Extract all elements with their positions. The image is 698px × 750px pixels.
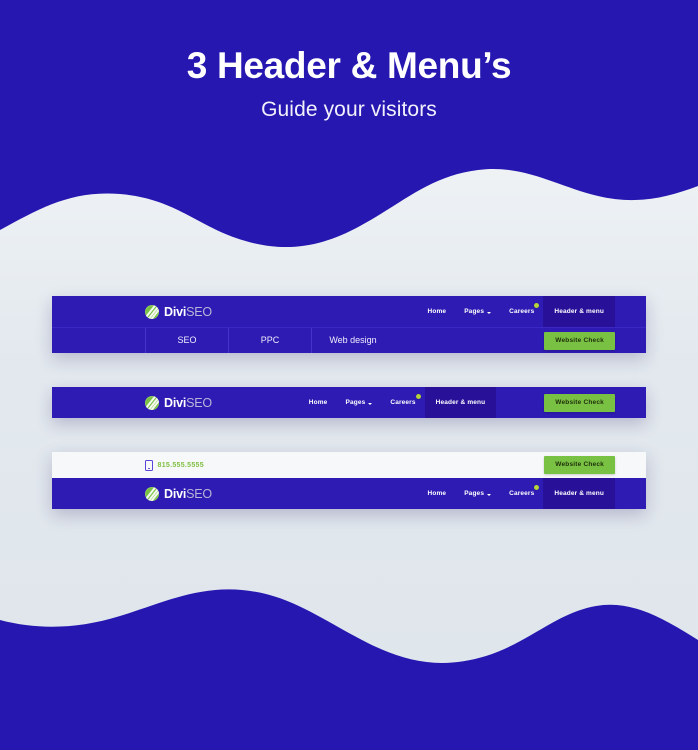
primary-navigation: Home Pages Careers Header & menu: [300, 387, 496, 418]
chevron-down-icon: [487, 312, 491, 314]
mobile-phone-icon: [145, 460, 153, 471]
notification-badge-icon: [416, 394, 421, 399]
website-check-button[interactable]: Website Check: [544, 332, 615, 350]
nav-item-careers[interactable]: Careers: [381, 387, 424, 418]
phone-number: 815.555.5555: [158, 461, 204, 470]
brand-logo[interactable]: DiviSEO: [145, 396, 212, 410]
header-variant-3: 815.555.5555 Website Check DiviSEO Home …: [52, 452, 646, 509]
nav-item-label: Home: [428, 490, 447, 498]
secondary-nav-item-web-design[interactable]: Web design: [311, 328, 394, 353]
hero-section: 3 Header & Menu’s Guide your visitors: [0, 0, 698, 123]
nav-item-header-and-menu[interactable]: Header & menu: [543, 478, 615, 509]
notification-badge-icon: [534, 303, 539, 308]
primary-navigation: Home Pages Careers Header & menu: [419, 296, 615, 327]
nav-item-label: Careers: [390, 399, 415, 407]
top-contact-bar: 815.555.5555 Website Check: [52, 452, 646, 478]
website-check-button[interactable]: Website Check: [544, 394, 615, 412]
main-nav-bar: DiviSEO Home Pages Careers Head: [52, 296, 646, 327]
nav-item-label: Home: [428, 308, 447, 316]
header-mockups-list: DiviSEO Home Pages Careers Head: [52, 296, 646, 509]
divi-leaf-logo-icon: [145, 396, 159, 410]
nav-item-home[interactable]: Home: [419, 478, 456, 509]
nav-item-label: Careers: [509, 308, 534, 316]
page-canvas: 3 Header & Menu’s Guide your visitors Di…: [0, 0, 698, 750]
brand-logo[interactable]: DiviSEO: [145, 487, 212, 501]
phone-contact[interactable]: 815.555.5555: [145, 460, 204, 471]
nav-item-label: Pages: [464, 308, 484, 316]
nav-cta-area: Website Check: [544, 394, 615, 412]
nav-item-careers[interactable]: Careers: [500, 296, 543, 327]
nav-item-label: Header & menu: [554, 308, 604, 316]
nav-item-pages[interactable]: Pages: [455, 478, 500, 509]
secondary-nav-label: SEO: [177, 335, 196, 346]
page-title: 3 Header & Menu’s: [0, 0, 698, 88]
header-variant-2: DiviSEO Home Pages Careers Head: [52, 387, 646, 418]
nav-item-label: Home: [309, 399, 328, 407]
main-nav-bar: DiviSEO Home Pages Careers Head: [52, 387, 646, 418]
brand-name: DiviSEO: [164, 305, 212, 319]
page-subtitle: Guide your visitors: [0, 88, 698, 123]
nav-item-pages[interactable]: Pages: [336, 387, 381, 418]
secondary-nav-bar: SEO PPC Web design Website Check: [52, 327, 646, 353]
nav-item-label: Header & menu: [436, 399, 486, 407]
primary-navigation: Home Pages Careers Header & menu: [419, 478, 615, 509]
secondary-nav-label: Web design: [329, 335, 376, 346]
brand-logo[interactable]: DiviSEO: [145, 305, 212, 319]
brand-name-bold: Divi: [164, 396, 186, 410]
brand-name-light: SEO: [186, 396, 212, 410]
nav-item-home[interactable]: Home: [419, 296, 456, 327]
brand-name: DiviSEO: [164, 487, 212, 501]
brand-name-bold: Divi: [164, 305, 186, 319]
nav-item-home[interactable]: Home: [300, 387, 337, 418]
nav-item-label: Header & menu: [554, 490, 604, 498]
secondary-nav-item-ppc[interactable]: PPC: [228, 328, 311, 353]
secondary-nav-left-spacer: [52, 328, 145, 353]
secondary-nav-label: PPC: [261, 335, 280, 346]
divi-leaf-logo-icon: [145, 305, 159, 319]
secondary-nav-item-seo[interactable]: SEO: [145, 328, 228, 353]
brand-name: DiviSEO: [164, 396, 212, 410]
website-check-button[interactable]: Website Check: [544, 456, 615, 474]
chevron-down-icon: [487, 494, 491, 496]
nav-item-label: Careers: [509, 490, 534, 498]
nav-item-header-and-menu[interactable]: Header & menu: [425, 387, 497, 418]
header-variant-1: DiviSEO Home Pages Careers Head: [52, 296, 646, 353]
brand-name-light: SEO: [186, 305, 212, 319]
chevron-down-icon: [368, 403, 372, 405]
main-nav-bar: DiviSEO Home Pages Careers Head: [52, 478, 646, 509]
nav-item-careers[interactable]: Careers: [500, 478, 543, 509]
divi-leaf-logo-icon: [145, 487, 159, 501]
notification-badge-icon: [534, 485, 539, 490]
secondary-nav-right-area: Website Check: [394, 328, 646, 353]
nav-item-label: Pages: [464, 490, 484, 498]
brand-name-bold: Divi: [164, 487, 186, 501]
nav-item-label: Pages: [345, 399, 365, 407]
nav-item-pages[interactable]: Pages: [455, 296, 500, 327]
nav-item-header-and-menu[interactable]: Header & menu: [543, 296, 615, 327]
brand-name-light: SEO: [186, 487, 212, 501]
